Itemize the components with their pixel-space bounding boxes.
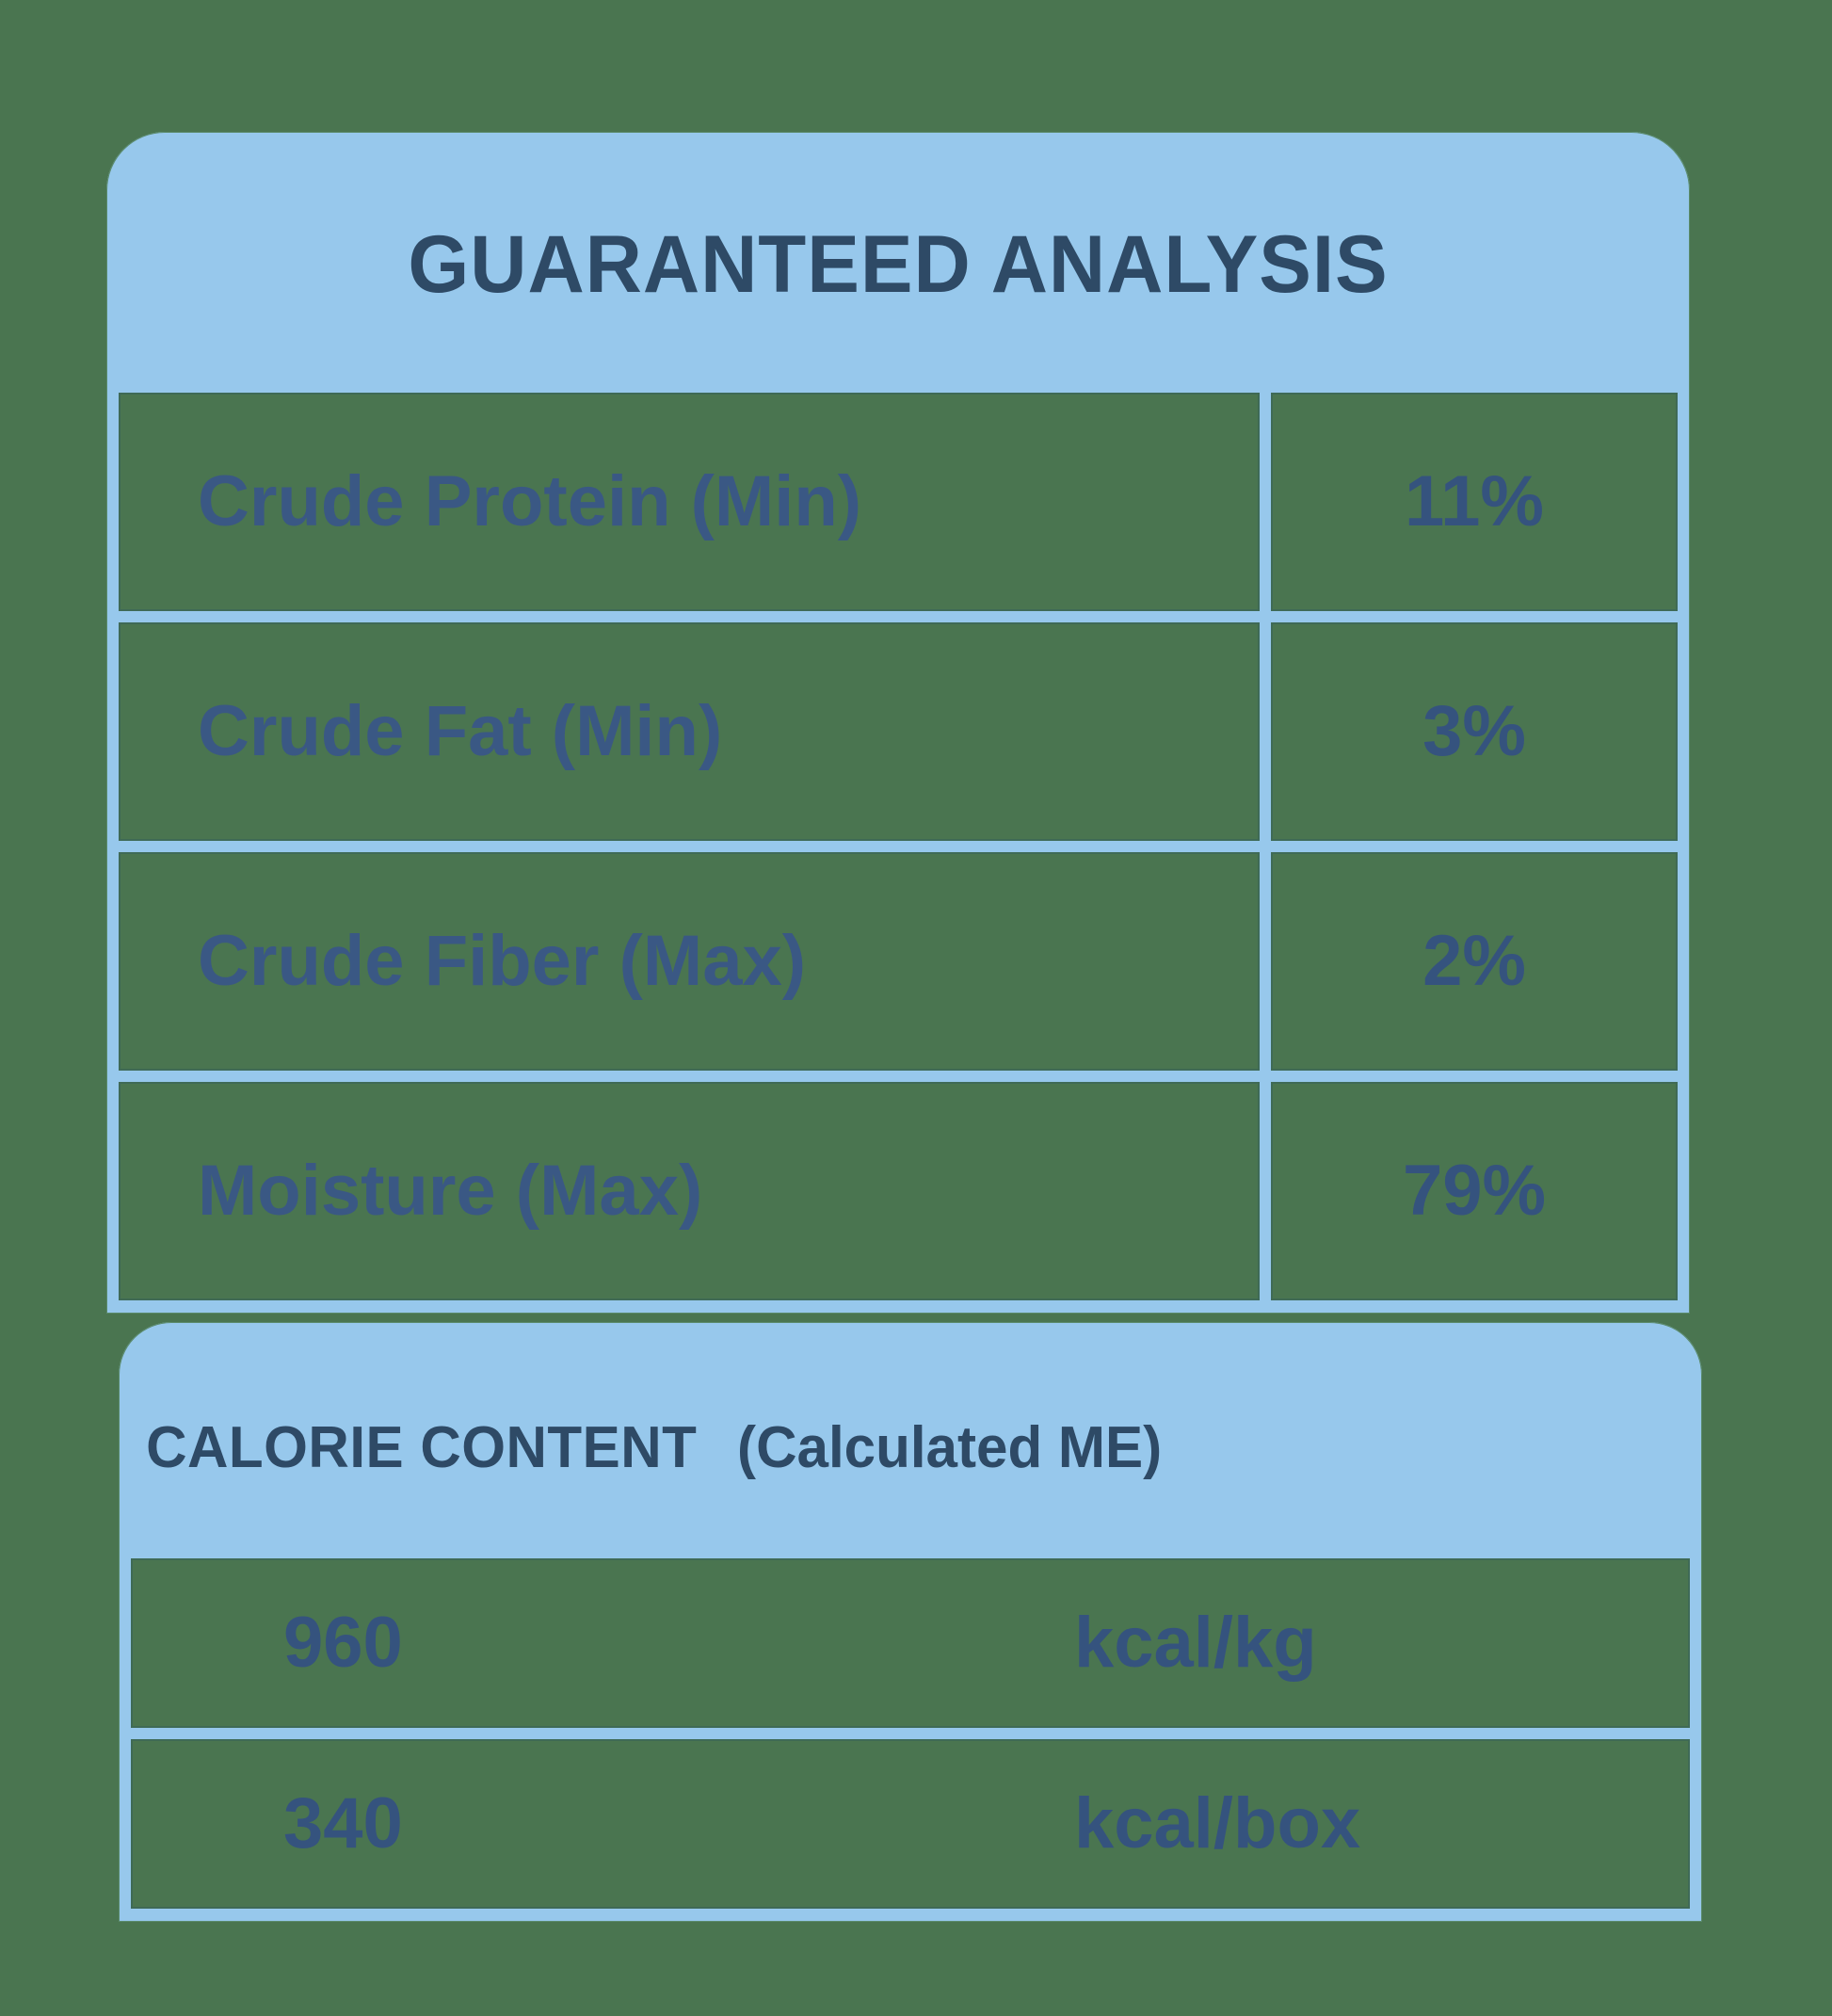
- table-row: 960 kcal/kg: [131, 1558, 1690, 1728]
- table-row: Moisture (Max) 79%: [119, 1082, 1678, 1300]
- nutrient-label-cell: Crude Fiber (Max): [119, 852, 1260, 1071]
- calorie-content-title-main: CALORIE CONTENT: [146, 1419, 697, 1477]
- nutrient-label: Crude Fat (Min): [198, 696, 722, 767]
- calorie-amount: 960: [283, 1607, 403, 1679]
- table-row: 340 kcal/box: [131, 1739, 1690, 1909]
- guaranteed-analysis-panel: GUARANTEED ANALYSIS Crude Protein (Min) …: [106, 132, 1690, 1314]
- nutrient-label: Crude Protein (Min): [198, 466, 861, 538]
- table-row: Crude Fiber (Max) 2%: [119, 852, 1678, 1071]
- nutrient-value-cell: 3%: [1271, 622, 1678, 841]
- calorie-content-title: CALORIE CONTENT (Calculated ME): [119, 1370, 1655, 1509]
- calorie-content-title-sub: (Calculated ME): [737, 1419, 1162, 1477]
- nutrition-label-sheet: GUARANTEED ANALYSIS Crude Protein (Min) …: [0, 0, 1832, 2016]
- nutrient-value-cell: 11%: [1271, 393, 1678, 611]
- calorie-unit: kcal/box: [1074, 1788, 1360, 1860]
- nutrient-value-cell: 79%: [1271, 1082, 1678, 1300]
- calorie-content-panel: CALORIE CONTENT (Calculated ME) 960 kcal…: [119, 1322, 1702, 1922]
- nutrient-label-cell: Crude Protein (Min): [119, 393, 1260, 611]
- nutrient-label-cell: Crude Fat (Min): [119, 622, 1260, 841]
- nutrient-value: 2%: [1422, 926, 1526, 997]
- nutrient-label-cell: Moisture (Max): [119, 1082, 1260, 1300]
- table-row: Crude Fat (Min) 3%: [119, 622, 1678, 841]
- nutrient-value: 79%: [1403, 1155, 1546, 1227]
- nutrient-value: 3%: [1422, 696, 1526, 767]
- table-row: Crude Protein (Min) 11%: [119, 393, 1678, 611]
- calorie-unit: kcal/kg: [1074, 1607, 1317, 1679]
- nutrient-value: 11%: [1405, 466, 1544, 538]
- calorie-amount: 340: [283, 1788, 403, 1860]
- nutrient-label: Moisture (Max): [198, 1155, 702, 1227]
- nutrient-value-cell: 2%: [1271, 852, 1678, 1071]
- guaranteed-analysis-title: GUARANTEED ANALYSIS: [130, 186, 1666, 339]
- guaranteed-analysis-table: Crude Protein (Min) 11% Crude Fat (Min) …: [106, 393, 1690, 1300]
- nutrient-label: Crude Fiber (Max): [198, 926, 806, 997]
- calorie-content-table: 960 kcal/kg 340 kcal/box: [119, 1558, 1702, 1909]
